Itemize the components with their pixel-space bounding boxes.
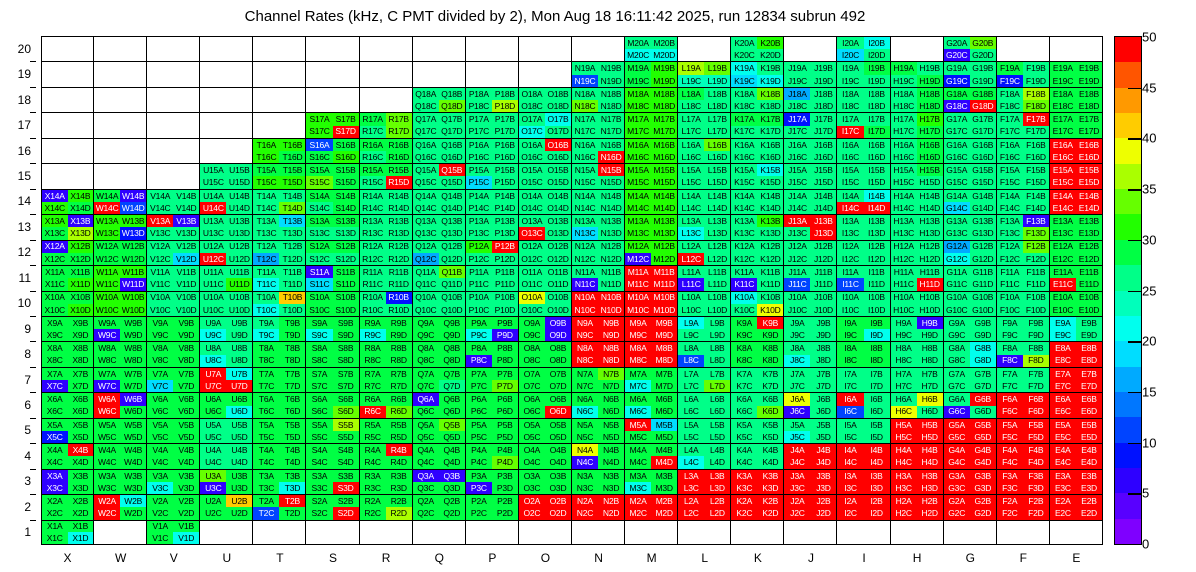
channel-M10A: M10A (625, 292, 651, 304)
channel-O8A: O8A (519, 342, 545, 354)
channel-J6C: J6C (784, 406, 810, 418)
channel-J14A: J14A (784, 190, 810, 202)
channel-M9D: M9D (651, 329, 677, 341)
channel-M11C: M11C (625, 278, 651, 290)
channel-H5A: H5A (891, 419, 917, 431)
channel-G6C: G6C (944, 406, 970, 418)
channel-V3D: V3D (173, 482, 199, 494)
channel-F8A: F8A (997, 342, 1023, 354)
channel-U4D: U4D (226, 456, 252, 468)
channel-U8B: U8B (226, 342, 252, 354)
channel-O7B: O7B (545, 368, 571, 380)
channel-P9D: P9D (492, 329, 518, 341)
channel-E15B: E15B (1076, 164, 1102, 176)
channel-I8D: I8D (864, 355, 890, 367)
channel-W8C: W8C (94, 355, 120, 367)
channel-F16A: F16A (997, 139, 1023, 151)
module-H16: H16AH16BH16CH16D (891, 138, 944, 163)
module-M2: M2AM2BM2CM2D (625, 494, 678, 519)
module-W14: W14AW14BW14CW14D (94, 189, 147, 214)
channel-Q10C: Q10C (413, 304, 439, 316)
channel-H8B: H8B (917, 342, 943, 354)
channel-O15C: O15C (519, 176, 545, 188)
channel-M20A: M20A (625, 37, 651, 49)
channel-K6C: K6C (731, 406, 757, 418)
channel-M10C: M10C (625, 304, 651, 316)
module-T10: T10AT10BT10CT10D (253, 291, 306, 316)
module-Q15: Q15AQ15BQ15CQ15D (413, 163, 466, 188)
channel-H6A: H6A (891, 393, 917, 405)
channel-I11A: I11A (837, 266, 863, 278)
channel-L12C: L12C (678, 253, 704, 265)
channel-I11D: I11D (864, 278, 890, 290)
channel-K10D: K10D (757, 304, 783, 316)
channel-F13A: F13A (997, 215, 1023, 227)
channel-S2A: S2A (306, 495, 332, 507)
channel-E2C: E2C (1050, 507, 1076, 519)
module-U2: U2AU2BU2CU2D (200, 494, 253, 519)
channel-F17D: F17D (1023, 126, 1049, 138)
channel-N8D: N8D (598, 355, 624, 367)
module-H18: H18AH18BH18CH18D (891, 87, 944, 112)
module-S14: S14AS14BS14CS14D (306, 189, 359, 214)
module-X16 (41, 138, 94, 163)
channel-L2B: L2B (704, 495, 730, 507)
channel-X4A: X4A (42, 444, 68, 456)
channel-X7C: X7C (42, 380, 68, 392)
channel-E2B: E2B (1076, 495, 1102, 507)
module-U6: U6AU6BU6CU6D (200, 392, 253, 417)
channel-T10A: T10A (253, 292, 279, 304)
channel-R6D: R6D (386, 406, 412, 418)
channel-U12A: U12A (200, 241, 226, 253)
module-I7: I7AI7BI7CI7D (837, 367, 890, 392)
x-tick-G: G (966, 551, 975, 565)
channel-N2B: N2B (598, 495, 624, 507)
channel-R11A: R11A (360, 266, 386, 278)
module-X15 (41, 163, 94, 188)
channel-P5C: P5C (466, 431, 492, 443)
channel-M12D: M12D (651, 253, 677, 265)
channel-I10C: I10C (837, 304, 863, 316)
module-P3: P3AP3BP3CP3D (466, 469, 519, 494)
module-O11: O11AO11BO11CO11D (519, 265, 572, 290)
channel-Q11D: Q11D (439, 278, 465, 290)
channel-W11A: W11A (94, 266, 120, 278)
channel-G12B: G12B (970, 241, 996, 253)
channel-K15D: K15D (757, 176, 783, 188)
channel-R4B: R4B (386, 444, 412, 456)
channel-M4B: M4B (651, 444, 677, 456)
channel-L4D: L4D (704, 456, 730, 468)
module-O9: O9AO9BO9CO9D (519, 316, 572, 341)
y-tick-2: 2 (24, 500, 31, 514)
channel-N6D: N6D (598, 406, 624, 418)
module-Q8: Q8AQ8BQ8CQ8D (413, 341, 466, 366)
channel-E19C: E19C (1050, 75, 1076, 87)
channel-F11C: F11C (997, 278, 1023, 290)
channel-I4A: I4A (837, 444, 863, 456)
channel-U6C: U6C (200, 406, 226, 418)
channel-H3C: H3C (891, 482, 917, 494)
module-P8: P8AP8BP8CP8D (466, 341, 519, 366)
module-S17: S17AS17BS17CS17D (306, 112, 359, 137)
module-M14: M14AM14BM14CM14D (625, 189, 678, 214)
y-tick-mark (30, 163, 36, 164)
channel-M6B: M6B (651, 393, 677, 405)
channel-T14A: T14A (253, 190, 279, 202)
channel-P14A: P14A (466, 190, 492, 202)
channel-G7B: G7B (970, 368, 996, 380)
channel-R15D: R15D (386, 176, 412, 188)
x-tick-J: J (808, 551, 814, 565)
colorbar-tick-mark (1128, 189, 1142, 191)
channel-O2B: O2B (545, 495, 571, 507)
module-S1 (306, 520, 359, 545)
module-K13: K13AK13BK13CK13D (731, 214, 784, 239)
channel-V5A: V5A (147, 419, 173, 431)
channel-U2B: U2B (226, 495, 252, 507)
channel-R13B: R13B (386, 215, 412, 227)
module-Q20 (413, 36, 466, 61)
channel-W14B: W14B (120, 190, 146, 202)
channel-K8C: K8C (731, 355, 757, 367)
channel-N13C: N13C (572, 227, 598, 239)
module-S13: S13AS13BS13CS13D (306, 214, 359, 239)
channel-O2C: O2C (519, 507, 545, 519)
channel-K19D: K19D (757, 75, 783, 87)
channel-V13B: V13B (173, 215, 199, 227)
channel-E19B: E19B (1076, 62, 1102, 74)
channel-P5A: P5A (466, 419, 492, 431)
channel-E19A: E19A (1050, 62, 1076, 74)
module-E3: E3AE3BE3CE3D (1050, 469, 1103, 494)
channel-I7C: I7C (837, 380, 863, 392)
channel-N3D: N3D (598, 482, 624, 494)
channel-M6D: M6D (651, 406, 677, 418)
module-X14: X14AX14BX14CX14D (41, 189, 94, 214)
y-tick-mark (30, 316, 36, 317)
channel-R3A: R3A (360, 470, 386, 482)
channel-W13C: W13C (94, 227, 120, 239)
channel-W5C: W5C (94, 431, 120, 443)
channel-K19C: K19C (731, 75, 757, 87)
channel-F12C: F12C (997, 253, 1023, 265)
channel-T14D: T14D (279, 202, 305, 214)
channel-Q13B: Q13B (439, 215, 465, 227)
channel-K5A: K5A (731, 419, 757, 431)
channel-F14B: F14B (1023, 190, 1049, 202)
channel-H17D: H17D (917, 126, 943, 138)
channel-H18B: H18B (917, 88, 943, 100)
channel-N4B: N4B (598, 444, 624, 456)
channel-L16C: L16C (678, 151, 704, 163)
channel-J15A: J15A (784, 164, 810, 176)
channel-G20D: G20D (970, 49, 996, 61)
channel-N5D: N5D (598, 431, 624, 443)
channel-J18A: J18A (784, 88, 810, 100)
module-L8: L8AL8BL8CL8D (678, 341, 731, 366)
channel-X4D: X4D (68, 456, 94, 468)
channel-T10C: T10C (253, 304, 279, 316)
channel-Q2C: Q2C (413, 507, 439, 519)
channel-V1D: V1D (173, 532, 199, 544)
channel-I10A: I10A (837, 292, 863, 304)
channel-K20B: K20B (757, 37, 783, 49)
channel-F6A: F6A (997, 393, 1023, 405)
module-U19 (200, 61, 253, 86)
channel-T6C: T6C (253, 406, 279, 418)
channel-J10C: J10C (784, 304, 810, 316)
module-N5: N5AN5BN5CN5D (572, 418, 625, 443)
module-H5: H5AH5BH5CH5D (891, 418, 944, 443)
channel-M10D: M10D (651, 304, 677, 316)
channel-N11C: N11C (572, 278, 598, 290)
module-S15: S15AS15BS15CS15D (306, 163, 359, 188)
channel-P11C: P11C (466, 278, 492, 290)
module-P11: P11AP11BP11CP11D (466, 265, 519, 290)
channel-W8D: W8D (120, 355, 146, 367)
channel-L18B: L18B (704, 88, 730, 100)
channel-G18C: G18C (944, 100, 970, 112)
channel-Q8C: Q8C (413, 355, 439, 367)
module-J2: J2AJ2BJ2CJ2D (784, 494, 837, 519)
module-R15: R15AR15BR15CR15D (360, 163, 413, 188)
channel-Q6A: Q6A (413, 393, 439, 405)
channel-F15A: F15A (997, 164, 1023, 176)
channel-T16A: T16A (253, 139, 279, 151)
channel-J13B: J13B (810, 215, 836, 227)
channel-J5B: J5B (810, 419, 836, 431)
module-Q9: Q9AQ9BQ9CQ9D (413, 316, 466, 341)
channel-N16A: N16A (572, 139, 598, 151)
channel-L9B: L9B (704, 317, 730, 329)
y-tick-13: 13 (18, 220, 31, 234)
channel-J9B: J9B (810, 317, 836, 329)
channel-X8A: X8A (42, 342, 68, 354)
channel-T13A: T13A (253, 215, 279, 227)
channel-M4C: M4C (625, 456, 651, 468)
channel-J7A: J7A (784, 368, 810, 380)
channel-I5A: I5A (837, 419, 863, 431)
channel-K16A: K16A (731, 139, 757, 151)
module-R12: R12AR12BR12CR12D (360, 240, 413, 265)
channel-R14D: R14D (386, 202, 412, 214)
module-I4: I4AI4BI4CI4D (837, 443, 890, 468)
y-tick-mark (30, 367, 36, 368)
channel-K14D: K14D (757, 202, 783, 214)
module-L6: L6AL6BL6CL6D (678, 392, 731, 417)
module-X18 (41, 87, 94, 112)
channel-U9D: U9D (226, 329, 252, 341)
channel-Q11B: Q11B (439, 266, 465, 278)
colorbar-tick-mark (1128, 240, 1142, 242)
channel-N4A: N4A (572, 444, 598, 456)
y-tick-mark (30, 418, 36, 419)
channel-I20B: I20B (864, 37, 890, 49)
channel-O15D: O15D (545, 176, 571, 188)
channel-H4A: H4A (891, 444, 917, 456)
channel-L11B: L11B (704, 266, 730, 278)
channel-R5A: R5A (360, 419, 386, 431)
channel-R3C: R3C (360, 482, 386, 494)
channel-J14C: J14C (784, 202, 810, 214)
module-S12: S12AS12BS12CS12D (306, 240, 359, 265)
channel-N13B: N13B (598, 215, 624, 227)
channel-K19A: K19A (731, 62, 757, 74)
channel-Q7A: Q7A (413, 368, 439, 380)
module-R18 (360, 87, 413, 112)
channel-H15B: H15B (917, 164, 943, 176)
channel-G4D: G4D (970, 456, 996, 468)
heatmap-plot: M20AM20BM20CM20DK20AK20BK20CK20DI20AI20B… (41, 36, 1103, 545)
channel-N2A: N2A (572, 495, 598, 507)
channel-S8D: S8D (333, 355, 359, 367)
module-E4: E4AE4BE4CE4D (1050, 443, 1103, 468)
channel-S10C: S10C (306, 304, 332, 316)
module-T13: T13AT13BT13CT13D (253, 214, 306, 239)
module-J11: J11AJ11BJ11CJ11D (784, 265, 837, 290)
channel-O6A: O6A (519, 393, 545, 405)
channel-M9A: M9A (625, 317, 651, 329)
channel-E4C: E4C (1050, 456, 1076, 468)
module-H19: H19AH19BH19CH19D (891, 61, 944, 86)
channel-M18A: M18A (625, 88, 651, 100)
channel-K14A: K14A (731, 190, 757, 202)
channel-O17A: O17A (519, 113, 545, 125)
channel-J2D: J2D (810, 507, 836, 519)
channel-U4B: U4B (226, 444, 252, 456)
channel-F16D: F16D (1023, 151, 1049, 163)
channel-W5B: W5B (120, 419, 146, 431)
channel-Q7C: Q7C (413, 380, 439, 392)
colorbar-tick-mark (1128, 443, 1142, 445)
module-S18 (306, 87, 359, 112)
channel-E3D: E3D (1076, 482, 1102, 494)
module-O7: O7AO7BO7CO7D (519, 367, 572, 392)
channel-X1B: X1B (68, 521, 94, 533)
module-X5: X5AX5BX5CX5D (41, 418, 94, 443)
channel-F18D: F18D (1023, 100, 1049, 112)
channel-N14C: N14C (572, 202, 598, 214)
x-tick-N: N (594, 551, 603, 565)
channel-M3A: M3A (625, 470, 651, 482)
module-N9: N9AN9BN9CN9D (572, 316, 625, 341)
channel-O13A: O13A (519, 215, 545, 227)
channel-N8A: N8A (572, 342, 598, 354)
channel-K4B: K4B (757, 444, 783, 456)
channel-N17A: N17A (572, 113, 598, 125)
channel-E18D: E18D (1076, 100, 1102, 112)
channel-R15A: R15A (360, 164, 386, 176)
channel-R16C: R16C (360, 151, 386, 163)
x-tick-K: K (754, 551, 762, 565)
channel-F16C: F16C (997, 151, 1023, 163)
module-J14: J14AJ14BJ14CJ14D (784, 189, 837, 214)
module-W9: W9AW9BW9CW9D (94, 316, 147, 341)
channel-X13B: X13B (68, 215, 94, 227)
module-W2: W2AW2BW2CW2D (94, 494, 147, 519)
channel-T8C: T8C (253, 355, 279, 367)
channel-E11C: E11C (1050, 278, 1076, 290)
y-tick-mark (30, 443, 36, 444)
channel-X14D: X14D (68, 202, 94, 214)
channel-I6D: I6D (864, 406, 890, 418)
channel-K3A: K3A (731, 470, 757, 482)
module-F19: F19AF19BF19CF19D (997, 61, 1050, 86)
channel-I3C: I3C (837, 482, 863, 494)
channel-X12A: X12A (42, 241, 68, 253)
module-T7: T7AT7BT7CT7D (253, 367, 306, 392)
channel-N18D: N18D (598, 100, 624, 112)
channel-J8D: J8D (810, 355, 836, 367)
channel-P10A: P10A (466, 292, 492, 304)
channel-K12C: K12C (731, 253, 757, 265)
module-V13: V13AV13BV13CV13D (147, 214, 200, 239)
module-F18: F18AF18BF18CF18D (997, 87, 1050, 112)
channel-P17C: P17C (466, 126, 492, 138)
channel-L14B: L14B (704, 190, 730, 202)
module-H10: H10AH10BH10CH10D (891, 291, 944, 316)
channel-T12C: T12C (253, 253, 279, 265)
channel-N5A: N5A (572, 419, 598, 431)
channel-W12D: W12D (120, 253, 146, 265)
channel-S15B: S15B (333, 164, 359, 176)
channel-K15A: K15A (731, 164, 757, 176)
channel-F15D: F15D (1023, 176, 1049, 188)
channel-O16A: O16A (519, 139, 545, 151)
channel-X7A: X7A (42, 368, 68, 380)
channel-E4B: E4B (1076, 444, 1102, 456)
channel-V3A: V3A (147, 470, 173, 482)
channel-W7A: W7A (94, 368, 120, 380)
channel-N3B: N3B (598, 470, 624, 482)
module-P7: P7AP7BP7CP7D (466, 367, 519, 392)
channel-N3A: N3A (572, 470, 598, 482)
channel-N5B: N5B (598, 419, 624, 431)
channel-Q4A: Q4A (413, 444, 439, 456)
channel-O9D: O9D (545, 329, 571, 341)
channel-V2A: V2A (147, 495, 173, 507)
channel-M3D: M3D (651, 482, 677, 494)
channel-K6A: K6A (731, 393, 757, 405)
channel-E11D: E11D (1076, 278, 1102, 290)
module-U17 (200, 112, 253, 137)
channel-S12A: S12A (306, 241, 332, 253)
module-W13: W13AW13BW13CW13D (94, 214, 147, 239)
module-F11: F11AF11BF11CF11D (997, 265, 1050, 290)
channel-G19D: G19D (970, 75, 996, 87)
channel-I2D: I2D (864, 507, 890, 519)
channel-H12D: H12D (917, 253, 943, 265)
channel-H13D: H13D (917, 227, 943, 239)
module-N17: N17AN17BN17CN17D (572, 112, 625, 137)
channel-S14A: S14A (306, 190, 332, 202)
channel-V6C: V6C (147, 406, 173, 418)
channel-Q13A: Q13A (413, 215, 439, 227)
channel-T3B: T3B (279, 470, 305, 482)
channel-P15A: P15A (466, 164, 492, 176)
channel-L18A: L18A (678, 88, 704, 100)
channel-R10A: R10A (360, 292, 386, 304)
channel-F5B: F5B (1023, 419, 1049, 431)
colorbar-tick-30: 30 (1142, 232, 1156, 247)
module-S3: S3AS3BS3CS3D (306, 469, 359, 494)
module-V12: V12AV12BV12CV12D (147, 240, 200, 265)
module-I9: I9AI9BI9CI9D (837, 316, 890, 341)
module-F17: F17AF17BF17CF17D (997, 112, 1050, 137)
module-G15: G15AG15BG15CG15D (944, 163, 997, 188)
